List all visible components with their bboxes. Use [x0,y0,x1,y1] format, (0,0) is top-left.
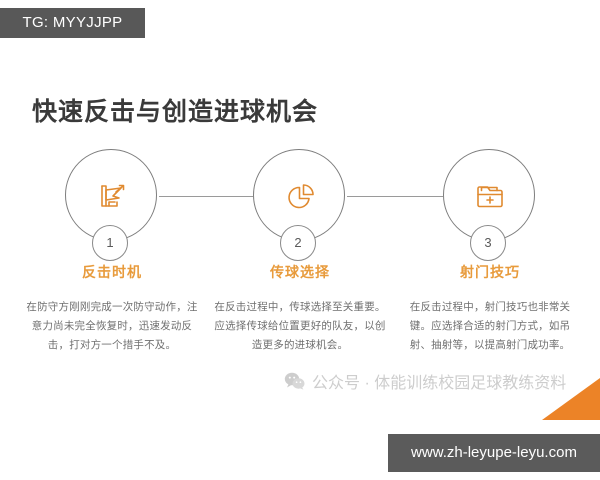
content-column-1: 反击时机 在防守方刚刚完成一次防守动作，注意力尚未完全恢复时，迅速发动反击，打对… [16,262,208,355]
connector-line-1-2 [159,196,253,197]
diagram-node-3[interactable]: 3 [443,149,537,243]
corner-wedge-decoration [542,378,600,420]
content-column-2: 传球选择 在反击过程中，传球选择至关重要。应选择传球给位置更好的队友，以创造更多… [204,262,396,355]
diagram-node-2[interactable]: 2 [253,149,347,243]
tg-badge: TG: MYYJJPP [0,8,145,38]
url-bar: www.zh-leyupe-leyu.com [388,434,600,472]
process-diagram: 1 2 [0,140,600,260]
column-body-text: 在防守方刚刚完成一次防守动作，注意力尚未完全恢复时，迅速发动反击，打对方一个措手… [25,298,200,355]
column-heading: 传球选择 [204,262,396,282]
watermark-text: 公众号 · 体能训练校园足球教练资料 [312,369,566,393]
node-number-badge: 1 [92,225,128,261]
column-heading: 反击时机 [16,262,208,282]
wechat-icon [284,372,305,390]
node-number-badge: 3 [470,225,506,261]
diagram-node-1[interactable]: 1 [65,149,159,243]
column-body-text: 在反击过程中，传球选择至关重要。应选择传球给位置更好的队友，以创造更多的进球机会… [213,298,388,355]
node-number-badge: 2 [280,225,316,261]
connector-line-2-3 [347,196,443,197]
column-heading: 射门技巧 [394,262,586,282]
slide-canvas: TG: MYYJJPP 快速反击与创造进球机会 1 [0,0,600,480]
column-body-text: 在反击过程中，射门技巧也非常关键。应选择合适的射门方式，如吊射、抽射等，以提高射… [403,298,578,355]
watermark: 公众号 · 体能训练校园足球教练资料 [284,369,566,393]
content-column-3: 射门技巧 在反击过程中，射门技巧也非常关键。应选择合适的射门方式，如吊射、抽射等… [394,262,586,355]
page-title: 快速反击与创造进球机会 [32,92,318,128]
